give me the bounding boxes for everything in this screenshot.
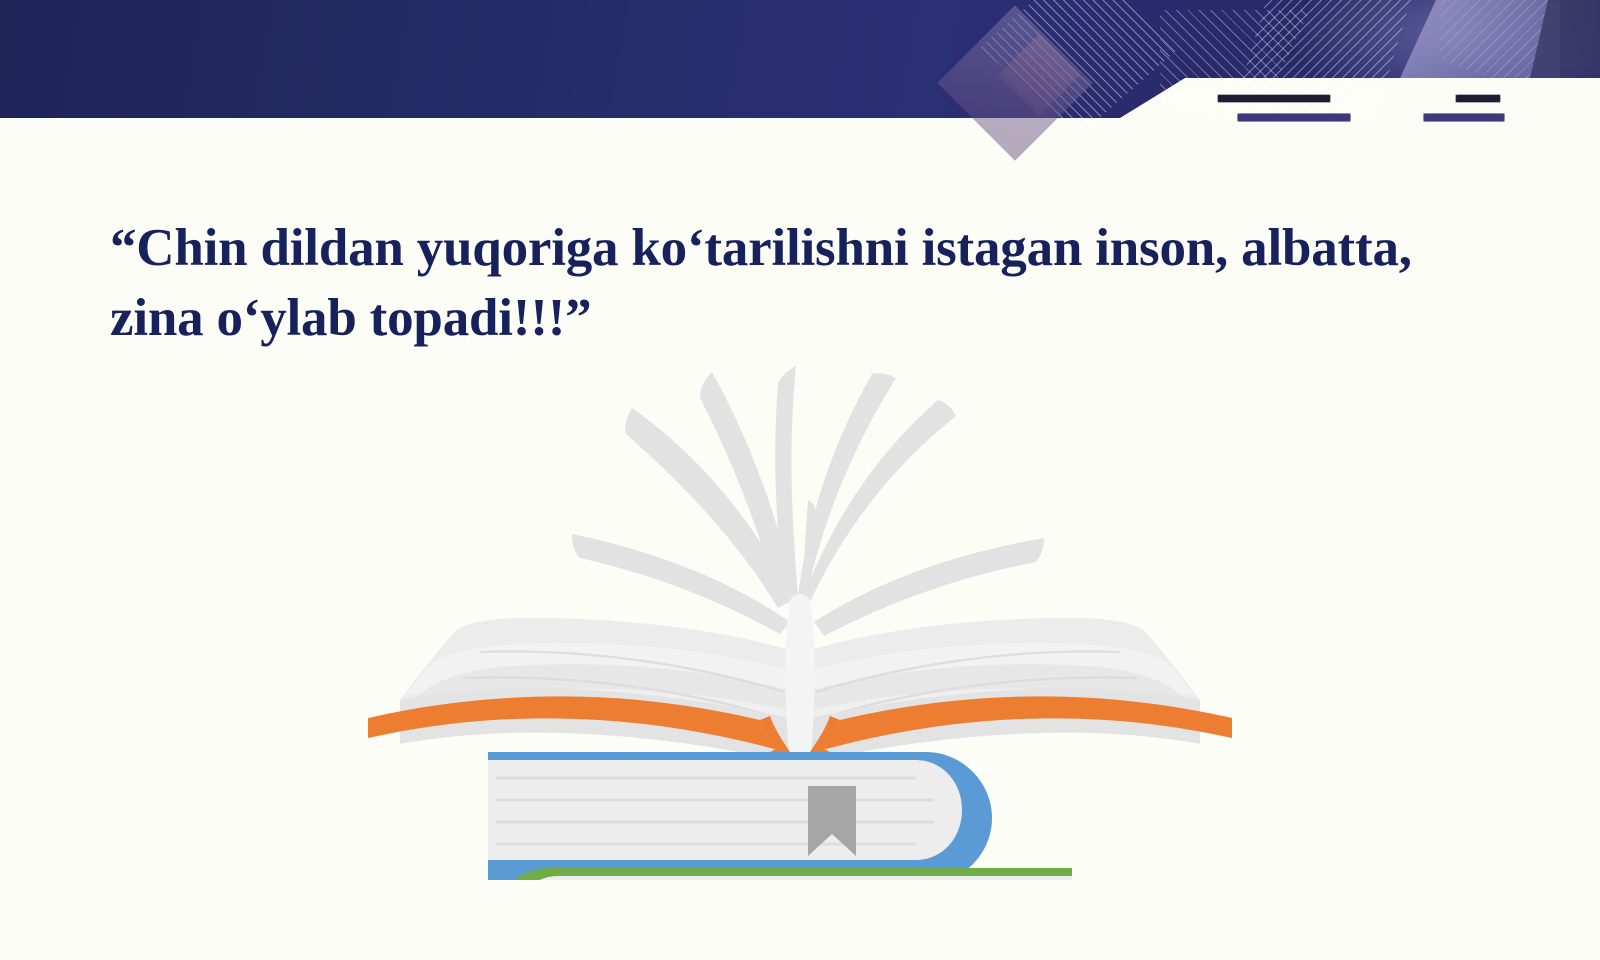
header-band-fill <box>0 0 1600 118</box>
line-mark-2-bottom <box>1424 114 1504 121</box>
line-mark-1-bottom <box>1238 114 1350 121</box>
flying-pages <box>572 366 1044 636</box>
open-book-illustration <box>360 300 1240 880</box>
header-band <box>0 0 1600 118</box>
line-mark-2-top <box>1456 95 1500 102</box>
open-book-pages <box>400 594 1200 772</box>
line-mark-1-top <box>1218 95 1330 102</box>
blue-book <box>488 752 992 880</box>
slide-canvas: “Chin dildan yuqoriga ko‘tarilishni ista… <box>0 0 1600 960</box>
green-book <box>488 868 1072 880</box>
